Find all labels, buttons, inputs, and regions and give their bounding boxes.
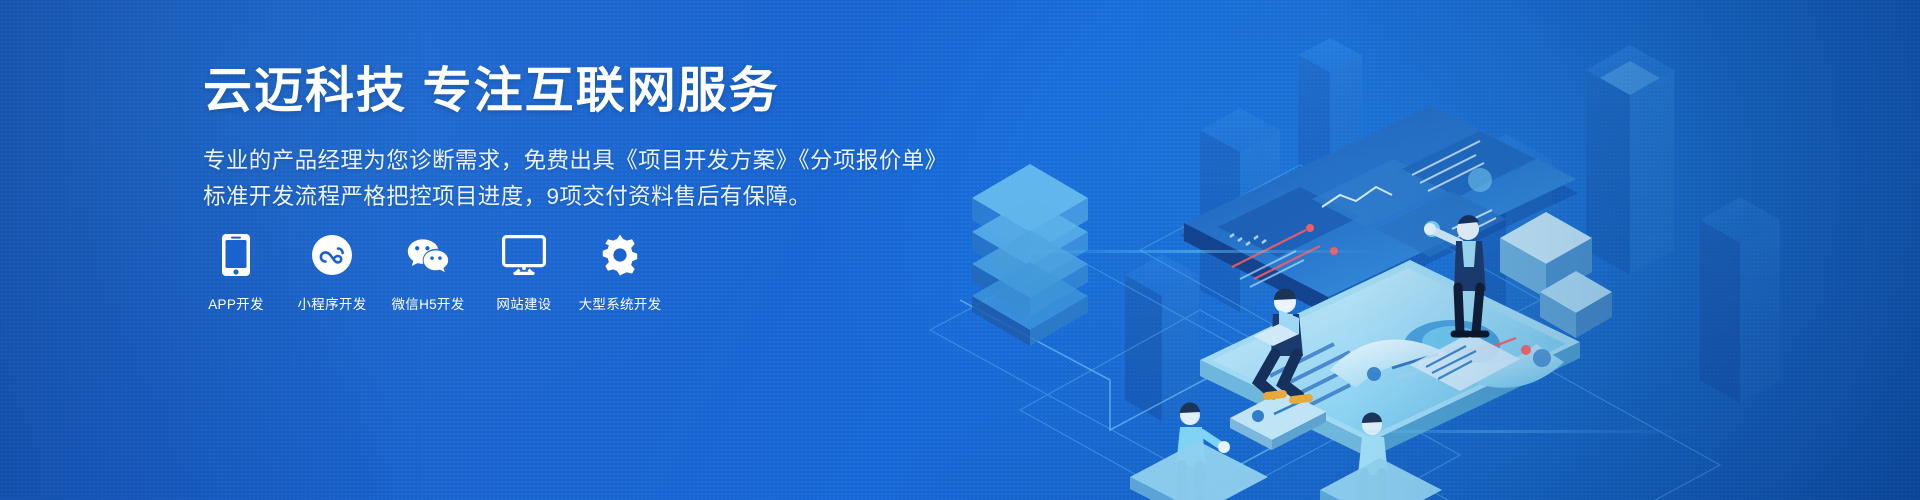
hero-content: 云迈科技 专注互联网服务 专业的产品经理为您诊断需求，免费出具《项目开发方案》《… (203, 62, 1103, 215)
mobile-phone-icon (214, 233, 258, 277)
mini-program-icon (310, 233, 354, 277)
page-title: 云迈科技 专注互联网服务 (203, 62, 1103, 121)
service-list: APP开发 小程序开发 (200, 233, 656, 313)
service-item-website[interactable]: 网站建设 (488, 233, 560, 313)
service-label: 小程序开发 (298, 293, 367, 313)
gear-icon (598, 233, 642, 277)
wechat-icon (406, 233, 450, 277)
monitor-icon (502, 233, 546, 277)
service-item-mini-program[interactable]: 小程序开发 (296, 233, 368, 313)
service-item-wechat-h5[interactable]: 微信H5开发 (392, 233, 464, 313)
service-item-large-system[interactable]: 大型系统开发 (584, 233, 656, 313)
service-label: 微信H5开发 (391, 293, 464, 313)
subtitle-line-2: 标准开发流程严格把控项目进度，9项交付资料售后有保障。 (203, 179, 1103, 215)
service-item-app[interactable]: APP开发 (200, 233, 272, 313)
service-label: 大型系统开发 (579, 293, 662, 313)
service-label: APP开发 (208, 293, 264, 313)
service-label: 网站建设 (496, 293, 551, 313)
subtitle-line-1: 专业的产品经理为您诊断需求，免费出具《项目开发方案》《分项报价单》 (203, 143, 1103, 179)
hero-banner: 云迈科技 专注互联网服务 专业的产品经理为您诊断需求，免费出具《项目开发方案》《… (0, 0, 1920, 500)
